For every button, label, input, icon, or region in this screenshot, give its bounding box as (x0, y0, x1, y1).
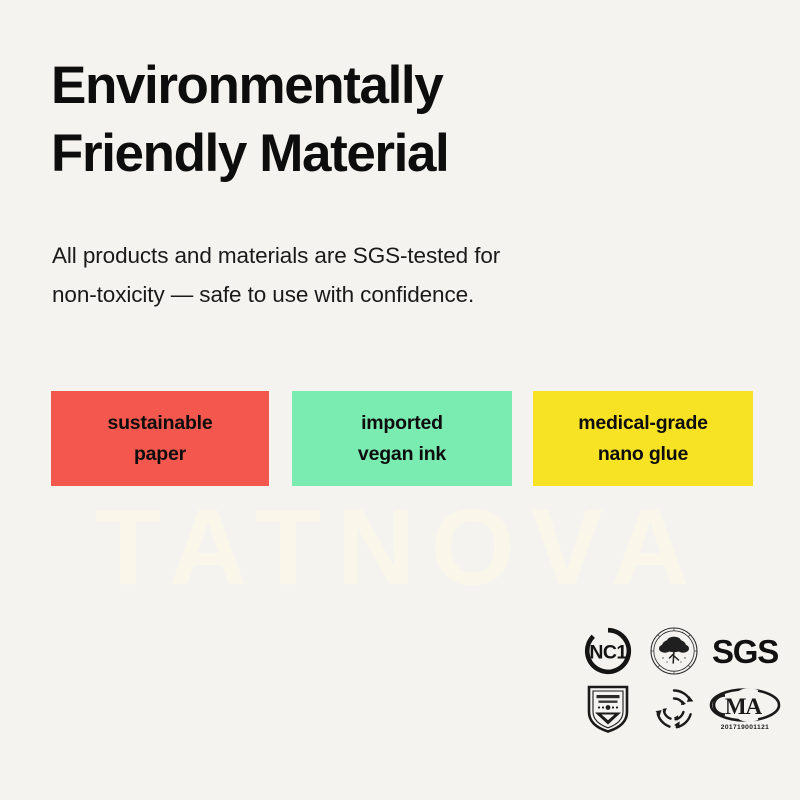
sgs-logo-icon: SGS (712, 635, 778, 668)
nc1-circle-icon: NC1 (584, 627, 632, 675)
certification-badge-cma: MA 201719001121 (707, 680, 783, 738)
certification-badge-nc1: NC1 (575, 622, 641, 680)
certification-badge-sgs: SGS (707, 622, 783, 680)
brand-watermark: TATNOVA (0, 487, 800, 607)
certification-badge-shield (575, 680, 641, 738)
material-tag-line-1: imported (361, 408, 443, 439)
page-subtitle-line-1: All products and materials are SGS-teste… (52, 236, 692, 275)
material-tag-line-2: nano glue (598, 439, 688, 470)
cma-logo-icon: MA (709, 687, 781, 723)
material-tag-row: sustainable paper imported vegan ink med… (51, 391, 753, 487)
material-tag-medical-grade-nano-glue: medical-grade nano glue (533, 391, 753, 486)
page-title: Environmentally Friendly Material (51, 52, 751, 188)
page-subtitle-line-2: non-toxicity — safe to use with confiden… (52, 275, 692, 314)
certification-badge-tree-seal (641, 622, 707, 680)
svg-text:NC1: NC1 (589, 642, 627, 664)
cma-certificate-number: 201719001121 (721, 725, 769, 732)
page-title-line-2: Friendly Material (51, 120, 751, 188)
tree-seal-icon (649, 626, 699, 676)
material-tag-imported-vegan-ink: imported vegan ink (292, 391, 512, 486)
recycling-arrows-icon (650, 685, 698, 733)
page-title-line-1: Environmentally (51, 52, 751, 120)
material-tag-line-1: medical-grade (578, 408, 708, 439)
shield-crest-icon (586, 684, 630, 734)
material-tag-line-1: sustainable (107, 408, 212, 439)
poster-canvas: TATNOVA Environmentally Friendly Materia… (0, 0, 800, 800)
certification-badge-recycling (641, 680, 707, 738)
material-tag-line-2: vegan ink (358, 439, 446, 470)
page-subtitle: All products and materials are SGS-teste… (52, 236, 692, 314)
material-tag-sustainable-paper: sustainable paper (51, 391, 269, 486)
certification-badge-grid: NC1 (575, 622, 783, 744)
material-tag-line-2: paper (134, 439, 186, 470)
svg-text:MA: MA (725, 694, 763, 719)
